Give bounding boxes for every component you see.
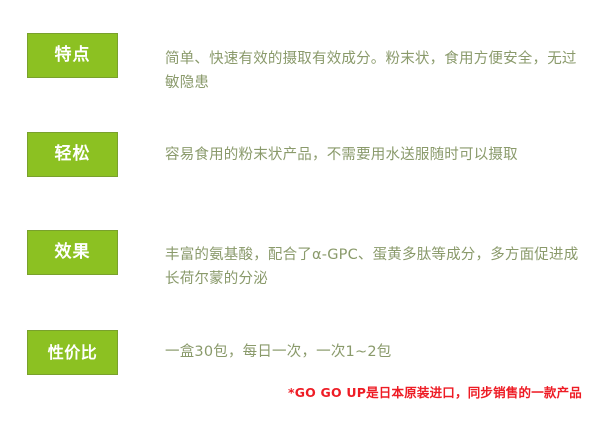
- feature-infographic: 特点 简单、快速有效的摄取有效成分。粉末状，食用方便安全，无过敏隐患 轻松 容易…: [0, 0, 600, 423]
- footnote-disclaimer: *GO GO UP是日本原装进口，同步销售的一款产品: [288, 382, 582, 401]
- feature-label-chip-value: 性价比: [27, 330, 118, 375]
- feature-description-characteristics: 简单、快速有效的摄取有效成分。粉末状，食用方便安全，无过敏隐患: [165, 47, 585, 95]
- feature-label-chip-easy: 轻松: [27, 132, 118, 177]
- feature-label-chip-effect: 效果: [27, 230, 118, 275]
- feature-description-effect: 丰富的氨基酸，配合了α-GPC、蛋黄多肽等成分，多方面促进成长荷尔蒙的分泌: [165, 243, 585, 291]
- feature-description-easy: 容易食用的粉末状产品，不需要用水送服随时可以摄取: [165, 143, 585, 167]
- feature-description-value: 一盒30包，每日一次，一次1~2包: [165, 340, 585, 364]
- feature-label-chip-characteristics: 特点: [27, 33, 118, 78]
- feature-list: 特点 简单、快速有效的摄取有效成分。粉末状，食用方便安全，无过敏隐患 轻松 容易…: [0, 0, 600, 423]
